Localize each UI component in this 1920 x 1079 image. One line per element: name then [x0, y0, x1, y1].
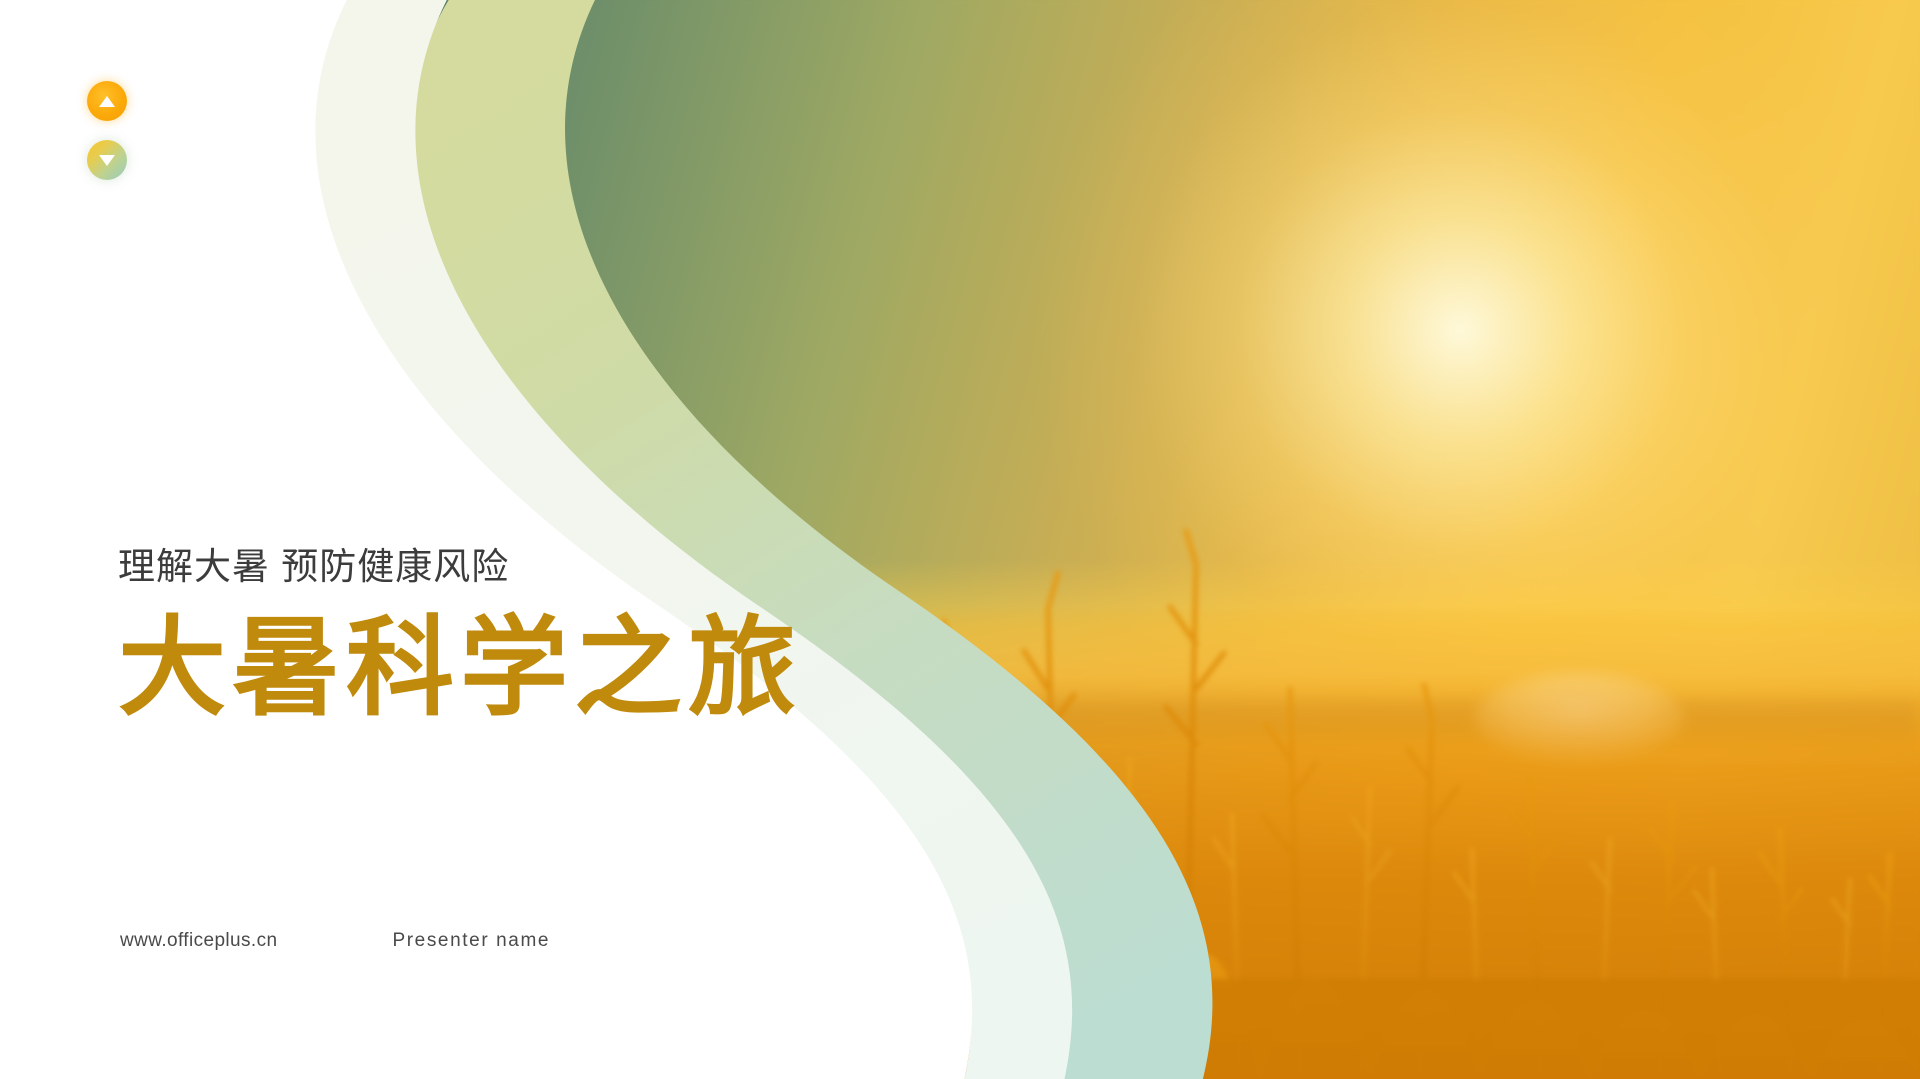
nav-down-button[interactable]: [87, 140, 127, 180]
nav-up-button[interactable]: [87, 81, 127, 121]
decorative-curve-panel: [0, 0, 1920, 1079]
footer: www.officeplus.cn Presenter name: [120, 930, 550, 952]
triangle-down-icon: [99, 155, 115, 166]
slide-canvas: 理解大暑 预防健康风险 大暑科学之旅 www.officeplus.cn Pre…: [0, 0, 1920, 1079]
slide-title: 大暑科学之旅: [118, 611, 938, 724]
slide-subtitle: 理解大暑 预防健康风险: [118, 545, 938, 589]
footer-presenter-name: Presenter name: [392, 930, 550, 952]
triangle-up-icon: [99, 96, 115, 107]
footer-website-url[interactable]: www.officeplus.cn: [120, 930, 277, 952]
title-block: 理解大暑 预防健康风险 大暑科学之旅: [118, 545, 938, 725]
